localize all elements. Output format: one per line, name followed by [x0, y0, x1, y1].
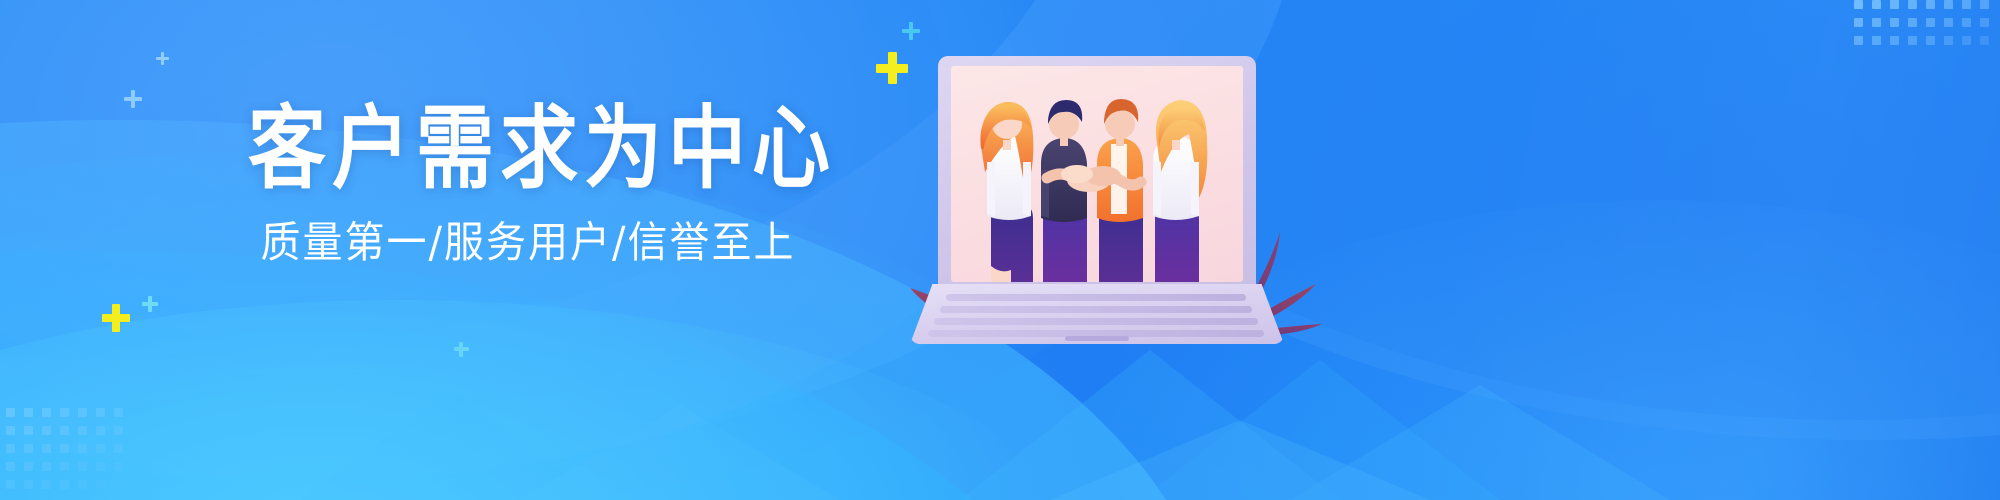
laptop-keyboard-base [910, 284, 1284, 344]
team-illustration [951, 66, 1243, 282]
banner-title: 客户需求为中心 [248, 104, 808, 194]
background-chevrons-left [300, 350, 860, 500]
person-1-woman-orange-hair [980, 102, 1033, 282]
laptop-screen-content [951, 66, 1243, 282]
promotional-banner: 客户需求为中心 质量第一/服务用户/信誉至上 [0, 0, 2000, 500]
person-2-man-dark-shirt [1041, 100, 1087, 282]
keyboard-row [934, 318, 1258, 325]
person-3-man-orange-jacket [1097, 99, 1143, 282]
laptop-illustration [910, 56, 1310, 346]
laptop-screen-bezel [938, 56, 1256, 288]
laptop-trackpad [1065, 336, 1129, 341]
person-4-woman-blonde [1153, 100, 1207, 282]
keyboard-row [940, 306, 1252, 313]
banner-subtitle: 质量第一/服务用户/信誉至上 [248, 220, 808, 267]
banner-text-block: 客户需求为中心 质量第一/服务用户/信誉至上 [248, 104, 808, 264]
keyboard-row [946, 294, 1246, 301]
